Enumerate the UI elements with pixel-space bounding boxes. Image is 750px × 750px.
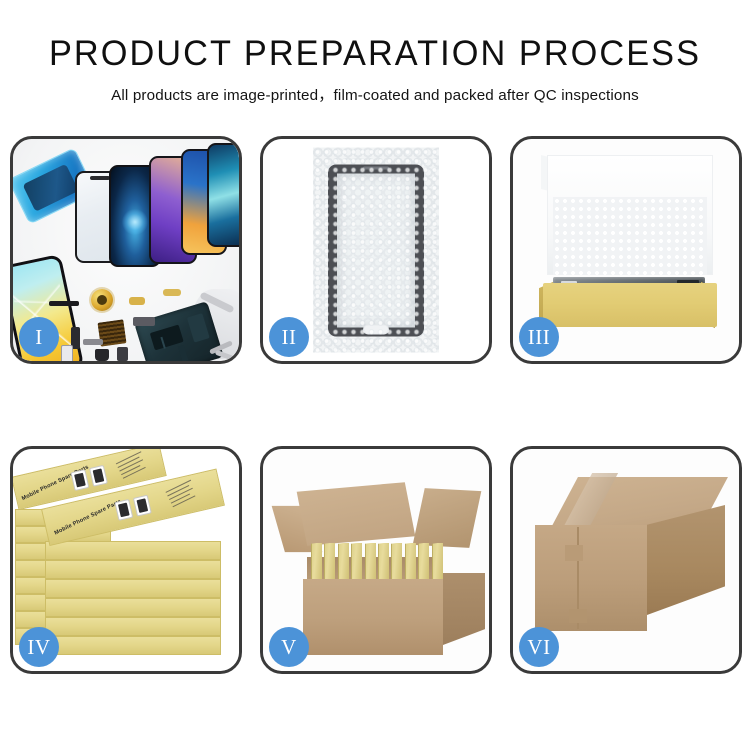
page-subtitle: All products are image-printed，film-coat… <box>0 83 750 105</box>
step-badge-3: III <box>519 317 559 357</box>
carton-contents-yellow-boxes <box>311 543 443 583</box>
sealed-carton-front-face <box>535 525 647 631</box>
spare-part-battery-cell <box>117 347 128 361</box>
process-step-5: V <box>260 446 492 674</box>
process-step-2: II <box>260 136 492 364</box>
spare-part-sim-tray <box>61 345 73 361</box>
stacked-box <box>45 636 221 655</box>
carton-front-face <box>303 579 443 655</box>
stacked-box <box>45 541 221 560</box>
carton-tab-lower <box>569 609 587 623</box>
home-button <box>363 324 389 334</box>
artwork-thumb <box>133 495 152 517</box>
step-badge-2: II <box>269 317 309 357</box>
artwork-thumb <box>114 499 133 521</box>
box-spec-lines <box>166 480 200 510</box>
spare-part-connector <box>129 297 145 305</box>
header: PRODUCT PREPARATION PROCESS All products… <box>0 0 750 105</box>
stacked-box <box>45 598 221 617</box>
carton-tab-upper <box>565 545 583 561</box>
wrapped-screen-assembly <box>328 164 424 336</box>
phone-teal-swirl <box>207 143 239 247</box>
step-badge-4: IV <box>19 627 59 667</box>
process-step-3: III <box>510 136 742 364</box>
carton-flap-back <box>297 482 416 546</box>
box-label-text: Mobile Phone Spare Parts <box>54 499 123 537</box>
stacked-box <box>45 560 221 579</box>
gold-coil-part <box>91 289 113 311</box>
kraft-box-base <box>543 283 717 327</box>
carton-flap-right <box>413 488 482 548</box>
step-badge-5: V <box>269 627 309 667</box>
spare-part-speaker <box>95 349 109 361</box>
foam-padding <box>553 197 707 275</box>
process-step-grid: I II <box>10 136 742 674</box>
artwork-thumb <box>89 465 108 487</box>
spare-part-gold-contact <box>163 289 181 296</box>
spare-part-bracket <box>83 339 103 345</box>
bubble-wrap-sheet <box>313 148 439 353</box>
spare-part-strip <box>49 301 79 306</box>
process-step-1: I <box>10 136 242 364</box>
step-badge-1: I <box>19 317 59 357</box>
process-step-4: Mobile Phone Spare Parts Mobile Phone Sp… <box>10 446 242 674</box>
box-spec-lines <box>116 451 150 481</box>
spare-part-module <box>133 317 155 326</box>
artwork-thumb <box>71 469 90 491</box>
page-title: PRODUCT PREPARATION PROCESS <box>8 36 743 73</box>
process-step-6: VI <box>510 446 742 674</box>
step-badge-6: VI <box>519 627 559 667</box>
stacked-box <box>45 617 221 636</box>
stacked-box <box>45 579 221 598</box>
product-preparation-infographic: PRODUCT PREPARATION PROCESS All products… <box>0 0 750 750</box>
